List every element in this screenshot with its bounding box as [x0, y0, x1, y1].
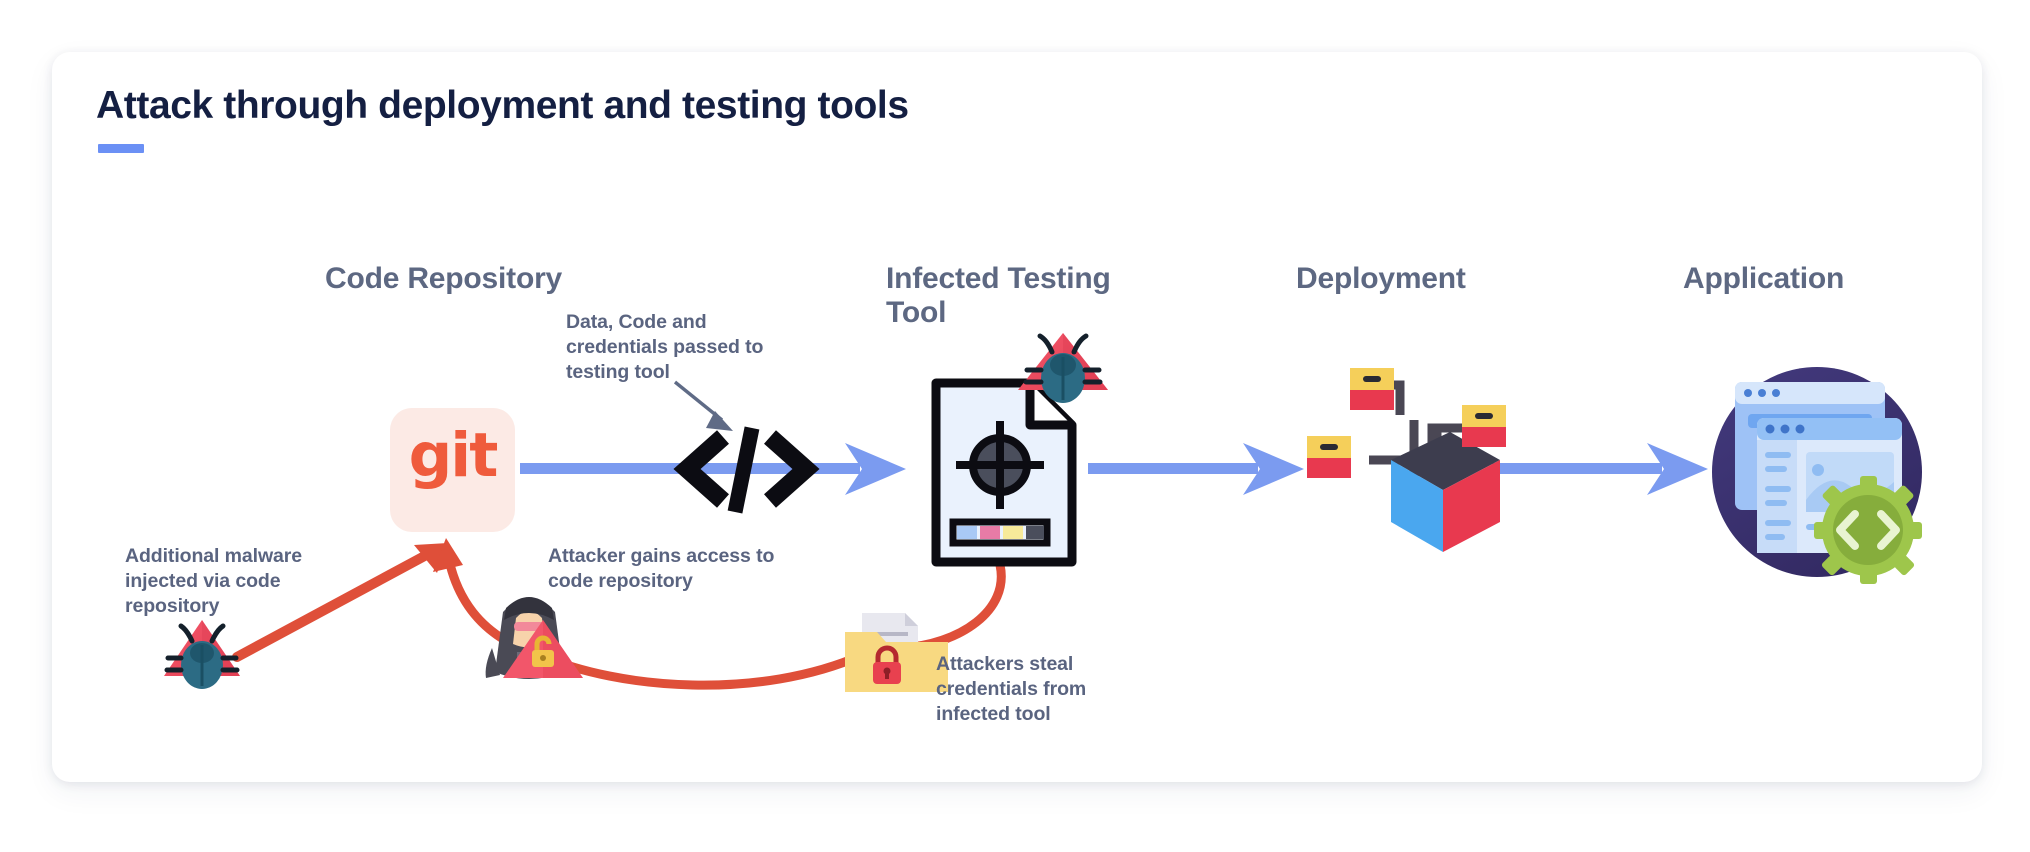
- annotation-attackers-steal-credentials: Attackers steal credentials from infecte…: [936, 652, 1146, 727]
- git-logo-icon: git: [390, 420, 515, 491]
- stage-label-application: Application: [1683, 262, 1844, 296]
- stage-label-line-1: Infected Testing: [886, 262, 1111, 295]
- annotation-line-3: infected tool: [936, 703, 1051, 725]
- annotation-line-2: credentials passed to: [566, 336, 763, 358]
- annotation-line-1: Data, Code and: [566, 311, 707, 333]
- stage-label-code-repository: Code Repository: [325, 262, 562, 296]
- annotation-line-1: Attacker gains access to: [548, 545, 774, 567]
- diagram-canvas: Attack through deployment and testing to…: [0, 0, 2030, 852]
- stage-label-infected-testing-tool: Infected Testing Tool: [886, 262, 1156, 329]
- page-title: Attack through deployment and testing to…: [96, 84, 909, 128]
- annotation-line-2: credentials from: [936, 678, 1086, 700]
- annotation-data-code-credentials: Data, Code and credentials passed to tes…: [566, 310, 796, 385]
- annotation-line-3: testing tool: [566, 361, 670, 383]
- annotation-additional-malware: Additional malware injected via code rep…: [125, 544, 365, 619]
- annotation-line-2: injected via code: [125, 570, 280, 592]
- annotation-line-3: repository: [125, 595, 219, 617]
- annotation-line-1: Attackers steal: [936, 653, 1073, 675]
- stage-label-deployment: Deployment: [1296, 262, 1466, 296]
- annotation-attacker-gains-access: Attacker gains access to code repository: [548, 544, 818, 594]
- annotation-line-2: code repository: [548, 570, 693, 592]
- stage-label-line-2: Tool: [886, 296, 946, 329]
- annotation-line-1: Additional malware: [125, 545, 302, 567]
- title-accent-underline: [98, 144, 144, 153]
